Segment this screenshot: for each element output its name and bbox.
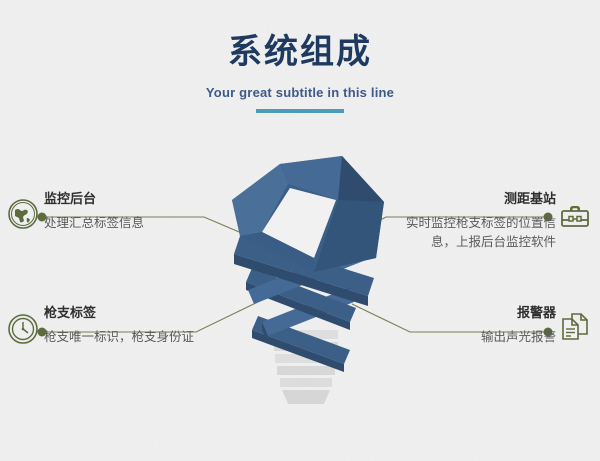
callout-monitor-backend: 监控后台 处理汇总标签信息 (44, 192, 204, 233)
callout-alarm: 报警器 输出声光报警 (396, 306, 556, 347)
callout-body: 枪支唯一标识，枪支身份证 (44, 328, 204, 347)
callout-heading: 测距基站 (388, 192, 556, 207)
slide-header: 系统组成 Your great subtitle in this line (0, 34, 600, 113)
subtitle-underline (256, 109, 344, 113)
callout-gun-tag: 枪支标签 枪支唯一标识，枪支身份证 (44, 306, 204, 347)
callout-body: 实时监控枪支标签的位置信息，上报后台监控软件 (388, 214, 556, 253)
callout-heading: 报警器 (396, 306, 556, 321)
callout-body: 输出声光报警 (396, 328, 556, 347)
clock-icon (6, 312, 40, 346)
callout-heading: 监控后台 (44, 192, 204, 207)
slide-canvas: 系统组成 Your great subtitle in this line (0, 0, 600, 461)
page-subtitle: Your great subtitle in this line (0, 85, 600, 100)
documents-icon (558, 309, 592, 343)
briefcase-icon (558, 199, 592, 233)
globe-icon (6, 197, 40, 231)
page-title: 系统组成 (0, 34, 600, 71)
callout-heading: 枪支标签 (44, 306, 204, 321)
origami-lightbulb-graphic (218, 150, 393, 415)
callout-body: 处理汇总标签信息 (44, 214, 204, 233)
callout-ranging-base-station: 测距基站 实时监控枪支标签的位置信息，上报后台监控软件 (388, 192, 556, 253)
